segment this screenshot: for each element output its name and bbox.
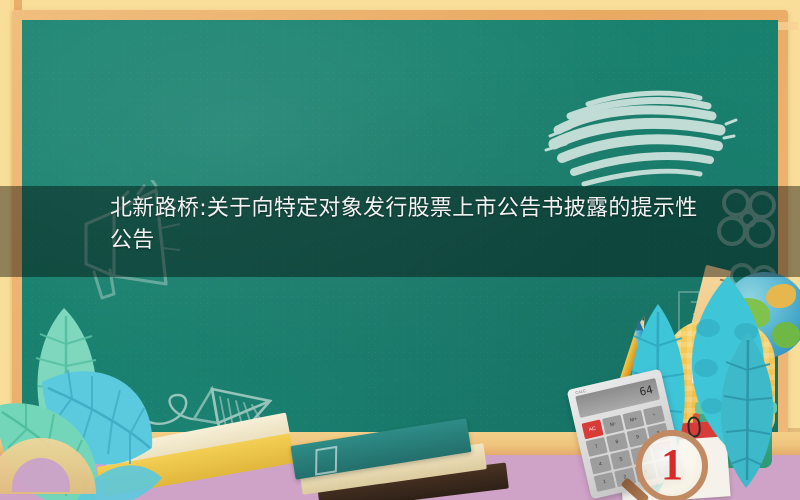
leaf-decoration <box>700 330 795 490</box>
announcement-card: NOTE SCHOOL <box>0 0 800 500</box>
calc-key: ÷ <box>643 405 665 424</box>
calc-key: 7 <box>586 437 608 456</box>
book-emblem <box>315 446 337 476</box>
calc-key: 4 <box>590 455 612 474</box>
magnifier: 1 <box>636 430 708 500</box>
magnifier-digit: 1 <box>661 443 683 487</box>
protractor-cutout <box>12 458 70 492</box>
calc-key: 8 <box>606 432 628 451</box>
calc-key: 1 <box>594 473 616 492</box>
calc-key: 5 <box>610 450 632 469</box>
calc-key: M- <box>602 415 624 434</box>
magnifier-lens: 1 <box>636 430 708 500</box>
calc-key: AC <box>582 420 604 439</box>
page-title: 北新路桥:关于向特定对象发行股票上市公告书披露的提示性公告 <box>110 193 710 257</box>
calc-key: M+ <box>623 410 645 429</box>
